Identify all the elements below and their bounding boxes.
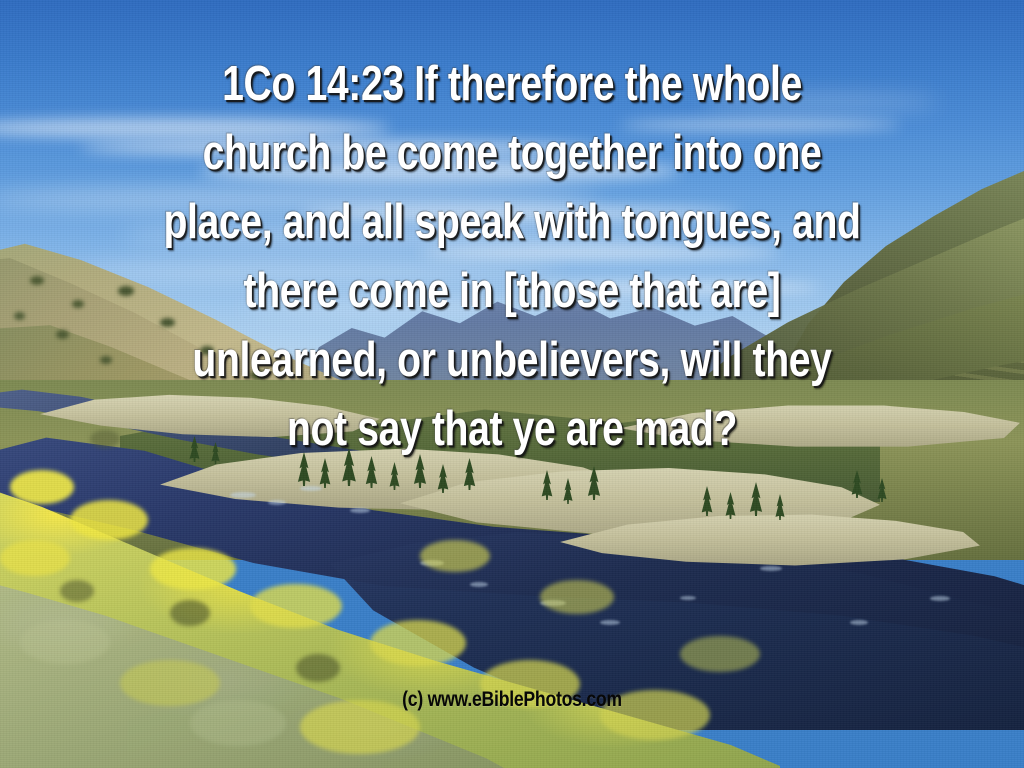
bloom-clump bbox=[70, 500, 148, 540]
bloom-clump bbox=[420, 540, 490, 572]
bloom-clump bbox=[0, 540, 70, 576]
shrub-dot bbox=[56, 330, 69, 339]
water-ripple bbox=[600, 620, 620, 625]
bloom-clump bbox=[250, 584, 342, 628]
water-ripple bbox=[230, 492, 256, 498]
copyright-watermark: (c) www.eBiblePhotos.com bbox=[82, 688, 942, 712]
dark-shrub bbox=[296, 654, 340, 682]
shrub-dot bbox=[30, 276, 44, 285]
water-ripple bbox=[350, 508, 370, 513]
water-ripple bbox=[470, 582, 488, 587]
dark-shrub bbox=[170, 600, 210, 626]
bloom-clump bbox=[20, 620, 110, 664]
water-ripple bbox=[760, 566, 782, 571]
verse-photo-canvas: 1Co 14:23 If therefore the whole church … bbox=[0, 0, 1024, 768]
bloom-clump bbox=[540, 580, 614, 614]
shrub-dot bbox=[72, 300, 84, 308]
shrub-dot bbox=[14, 312, 25, 320]
bloom-clump bbox=[370, 620, 466, 666]
water-ripple bbox=[680, 596, 696, 600]
dark-shrub bbox=[60, 580, 94, 602]
water-ripple bbox=[300, 486, 322, 491]
bloom-clump bbox=[150, 548, 236, 590]
water-ripple bbox=[930, 596, 950, 601]
bloom-clump bbox=[10, 470, 74, 504]
water-ripple bbox=[850, 620, 868, 625]
verse-text: 1Co 14:23 If therefore the whole church … bbox=[102, 50, 921, 464]
water-ripple bbox=[268, 500, 286, 505]
bloom-clump bbox=[680, 636, 760, 672]
